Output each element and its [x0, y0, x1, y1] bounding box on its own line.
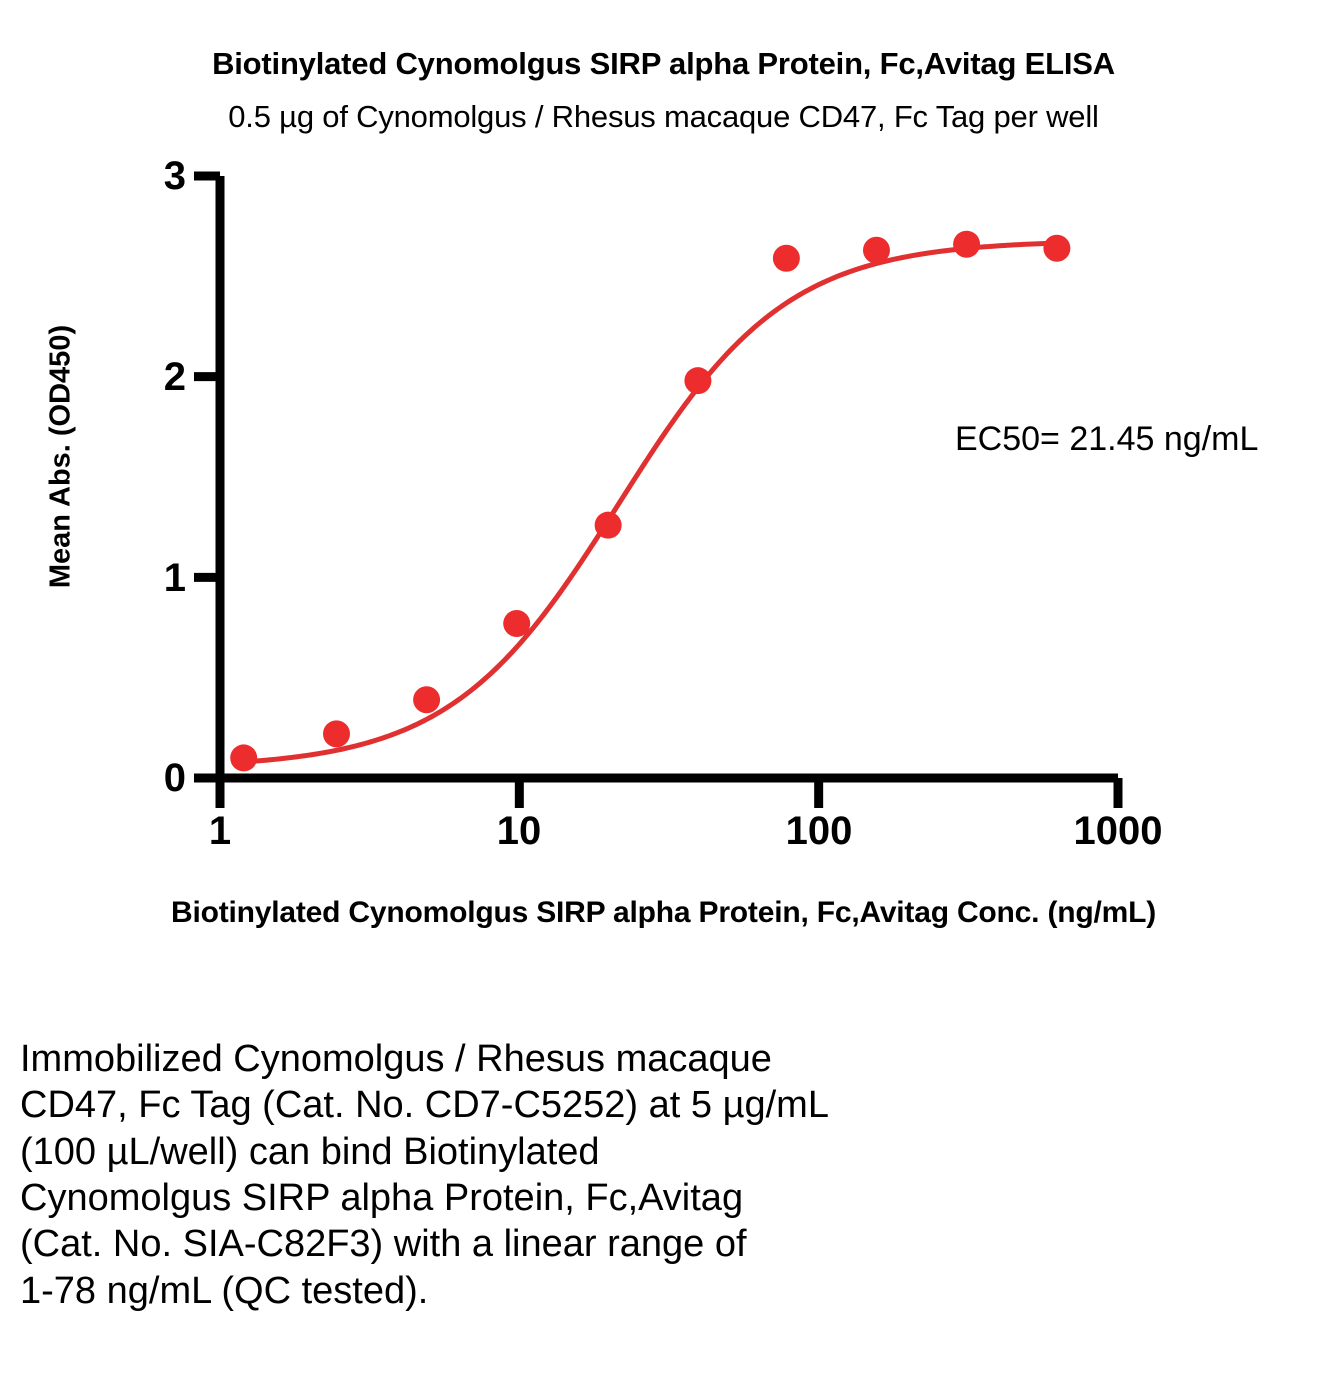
caption-line-5: (Cat. No. SIA-C82F3) with a linear range… [20, 1221, 1120, 1267]
data-point-1 [230, 744, 257, 771]
data-point-3 [413, 686, 440, 713]
y-tick-label-1: 1 [126, 558, 186, 598]
caption-line-1: Immobilized Cynomolgus / Rhesus macaque [20, 1036, 1120, 1082]
x-tick-label-1: 1 [130, 811, 310, 851]
x-tick-label-10: 10 [429, 811, 609, 851]
axis-layer [194, 176, 1118, 808]
y-tick-label-3: 3 [126, 156, 186, 196]
data-point-7 [773, 245, 800, 272]
caption-line-3: (100 µL/well) can bind Biotinylated [20, 1129, 1120, 1175]
y-tick-label-2: 2 [126, 357, 186, 397]
fit-curve [244, 243, 1064, 762]
figure-caption: Immobilized Cynomolgus / Rhesus macaqueC… [20, 1036, 1120, 1314]
y-axis-title: Mean Abs. (OD450) [45, 292, 78, 622]
caption-line-6: 1-78 ng/mL (QC tested). [20, 1268, 1120, 1314]
x-tick-label-100: 100 [729, 811, 909, 851]
ec50-annotation: EC50= 21.45 ng/mL [955, 420, 1258, 459]
caption-line-4: Cynomolgus SIRP alpha Protein, Fc,Avitag [20, 1175, 1120, 1221]
caption-line-2: CD47, Fc Tag (Cat. No. CD7-C5252) at 5 µ… [20, 1082, 1120, 1128]
data-point-layer [230, 231, 1070, 772]
data-point-6 [684, 367, 711, 394]
data-point-10 [1043, 235, 1070, 262]
data-point-8 [863, 237, 890, 264]
data-point-2 [323, 720, 350, 747]
data-point-9 [953, 231, 980, 258]
data-point-5 [595, 512, 622, 539]
x-tick-label-1000: 1000 [1028, 811, 1208, 851]
data-point-4 [503, 610, 530, 637]
x-axis-title: Biotinylated Cynomolgus SIRP alpha Prote… [0, 896, 1327, 930]
fit-curve-layer [244, 243, 1064, 762]
y-tick-label-0: 0 [126, 758, 186, 798]
